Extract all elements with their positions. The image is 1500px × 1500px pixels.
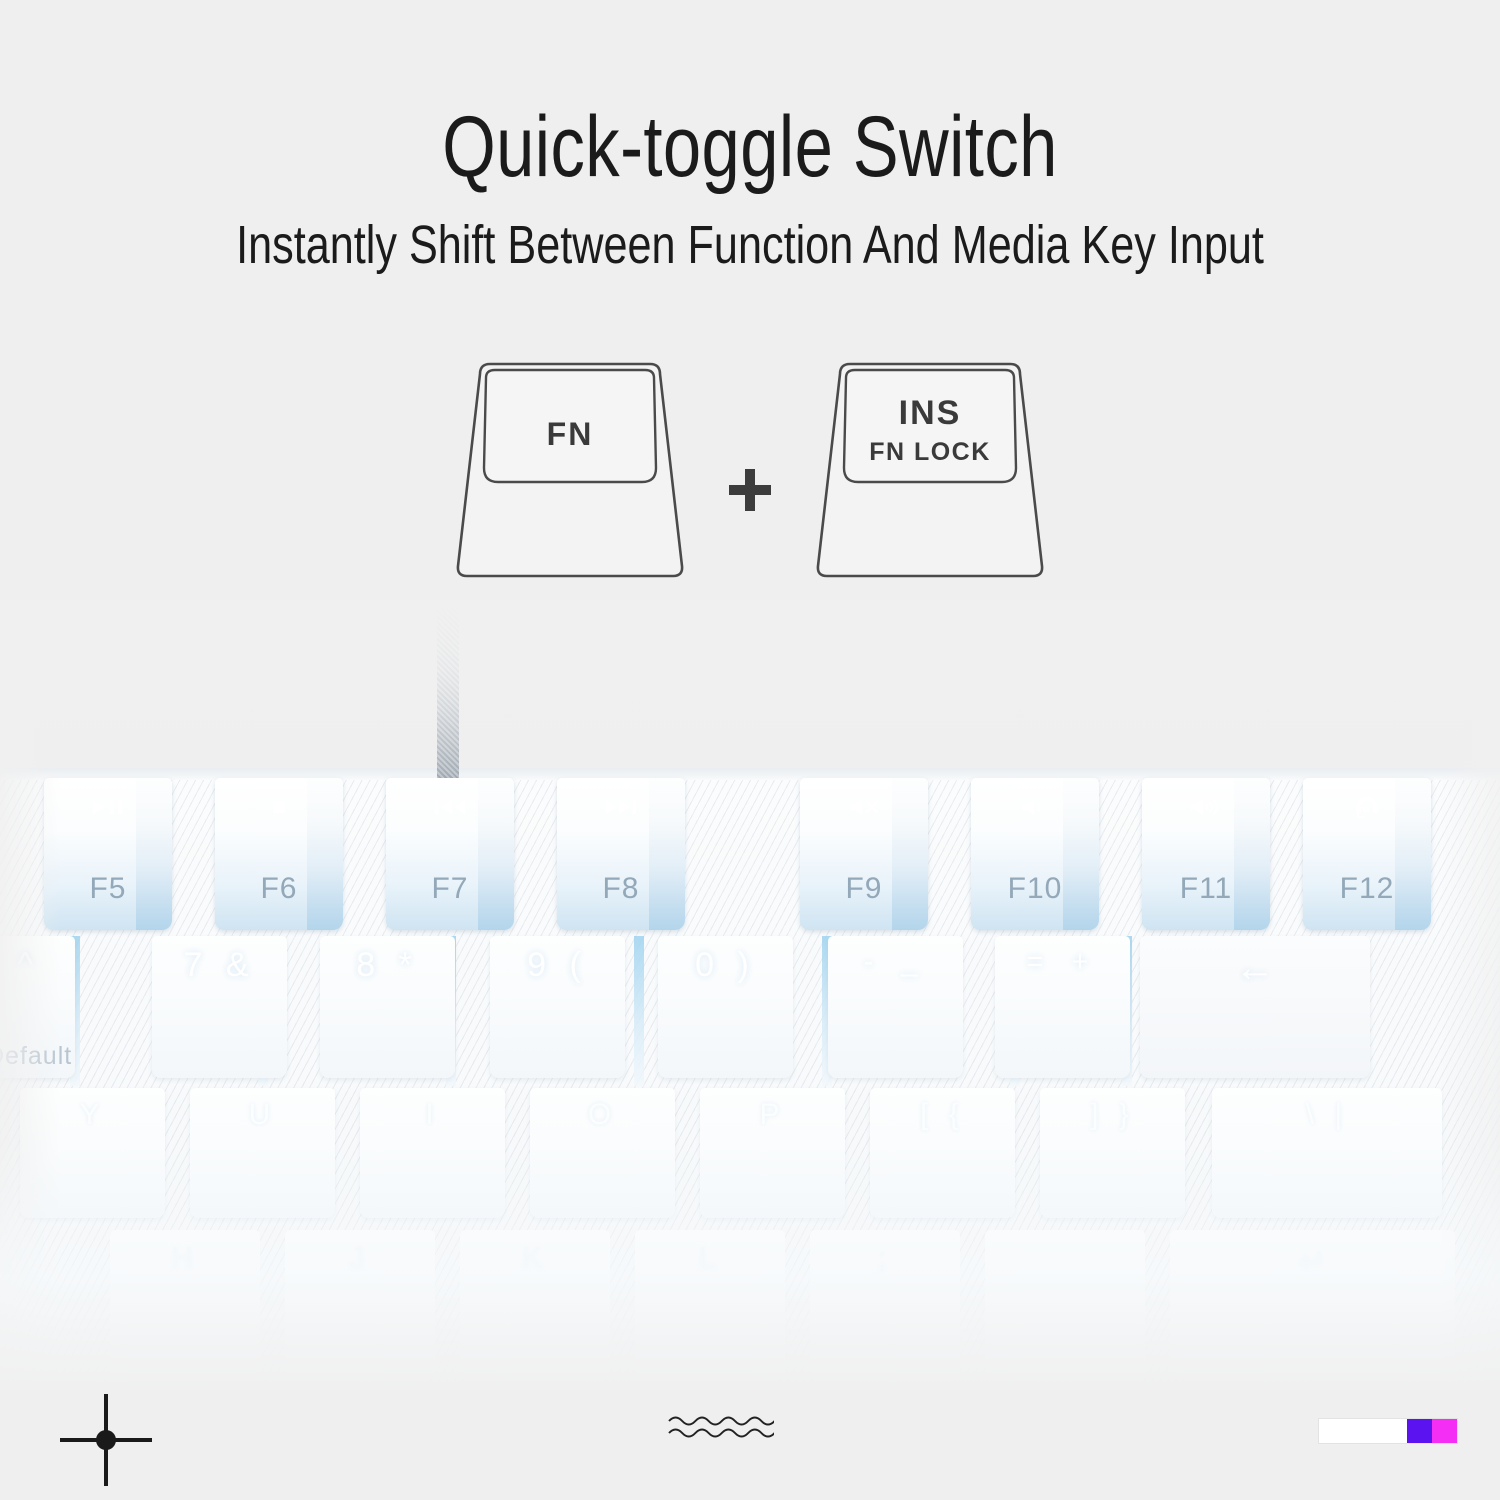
key-backslash: \ | bbox=[1212, 1088, 1442, 1218]
key-legend: 7 & bbox=[152, 946, 287, 985]
key-o: O bbox=[530, 1088, 675, 1218]
page-subtitle: Instantly Shift Between Function And Med… bbox=[150, 218, 1350, 272]
volume-down-icon bbox=[971, 796, 1099, 817]
key-h: H bbox=[110, 1230, 260, 1380]
key-f10: F10 bbox=[971, 778, 1099, 930]
key-legend: K bbox=[460, 1242, 610, 1276]
marketing-banner: Quick-toggle Switch Instantly Shift Betw… bbox=[0, 0, 1500, 1500]
print-color-bar bbox=[1318, 1418, 1458, 1444]
plus-icon bbox=[727, 467, 773, 513]
play-pause-icon bbox=[44, 796, 172, 817]
key-7: 7 & bbox=[152, 936, 287, 1078]
key-legend: F5 bbox=[44, 872, 172, 906]
ins-keycap-illustration: INS FN LOCK bbox=[810, 360, 1050, 590]
key-9: 9 ( bbox=[490, 936, 625, 1078]
key-f9: F9 bbox=[800, 778, 928, 930]
color-swatch-magenta bbox=[1432, 1419, 1457, 1443]
key-legend: = + bbox=[995, 946, 1130, 979]
keyboard-photo: F5 F6 F7 F8 bbox=[0, 600, 1500, 1390]
key-legend: 0 ) bbox=[658, 946, 793, 985]
key-legend: F12 bbox=[1303, 872, 1431, 906]
qwerty-row: Y U I O P [ { ] } \ | bbox=[0, 1088, 1500, 1223]
key-legend: 8 * bbox=[320, 946, 455, 985]
stop-icon bbox=[215, 796, 343, 817]
key-legend: U bbox=[190, 1098, 335, 1132]
key-legend: F9 bbox=[800, 872, 928, 906]
key-u: U bbox=[190, 1088, 335, 1218]
key-j: J bbox=[285, 1230, 435, 1380]
key-legend: ] } bbox=[1040, 1098, 1185, 1132]
key-f5: F5 bbox=[44, 778, 172, 930]
key-semicolon: ; bbox=[810, 1230, 960, 1380]
crosshair-registration-mark bbox=[58, 1392, 154, 1488]
key-legend: ← bbox=[1140, 946, 1370, 991]
key-quote bbox=[985, 1230, 1145, 1380]
key-legend: F7 bbox=[386, 872, 514, 906]
headings-block: Quick-toggle Switch Instantly Shift Betw… bbox=[0, 0, 1500, 272]
previous-track-icon bbox=[386, 796, 514, 817]
number-row: 6 ^ 7 & 8 * 9 ( 0 ) - _ = + ← bbox=[0, 936, 1500, 1086]
key-legend: O bbox=[530, 1098, 675, 1132]
key-k: K bbox=[460, 1230, 610, 1380]
key-legend: H bbox=[110, 1242, 260, 1276]
key-f12: F12 bbox=[1303, 778, 1431, 930]
home-row: H J K L ; ↵ bbox=[0, 1230, 1500, 1390]
key-legend: [ { bbox=[870, 1098, 1015, 1132]
mute-icon bbox=[800, 796, 928, 817]
key-enter: ↵ bbox=[1170, 1230, 1455, 1380]
fn-keycap-illustration: FN bbox=[450, 360, 690, 590]
fn-keycap-label: FN bbox=[450, 416, 690, 453]
key-backspace: ← bbox=[1140, 936, 1370, 1078]
key-8: 8 * bbox=[320, 936, 455, 1078]
key-legend: P bbox=[700, 1098, 845, 1132]
key-equals: = + bbox=[995, 936, 1130, 1078]
next-track-icon bbox=[557, 796, 685, 817]
key-legend: F11 bbox=[1142, 872, 1270, 906]
key-legend: I bbox=[360, 1098, 505, 1132]
key-bracket-left: [ { bbox=[870, 1088, 1015, 1218]
fn-keycap-shape bbox=[450, 360, 690, 590]
key-f11: F11 bbox=[1142, 778, 1270, 930]
page-title: Quick-toggle Switch bbox=[150, 104, 1350, 190]
wavy-line-resolution-mark bbox=[668, 1410, 774, 1444]
key-legend: F8 bbox=[557, 872, 685, 906]
key-minus: - _ bbox=[828, 936, 963, 1078]
volume-up-icon bbox=[1142, 796, 1270, 817]
key-0: 0 ) bbox=[658, 936, 793, 1078]
key-i: I bbox=[360, 1088, 505, 1218]
key-legend: - _ bbox=[828, 946, 963, 979]
key-legend: 9 ( bbox=[490, 946, 625, 985]
key-f7: F7 bbox=[386, 778, 514, 930]
key-f6: F6 bbox=[215, 778, 343, 930]
color-swatch-violet bbox=[1407, 1419, 1432, 1443]
key-legend: J bbox=[285, 1242, 435, 1276]
key-legend: ↵ bbox=[1170, 1242, 1455, 1282]
key-legend: L bbox=[635, 1242, 785, 1276]
key-legend: F10 bbox=[971, 872, 1099, 906]
key-legend: F6 bbox=[215, 872, 343, 906]
key-legend: \ | bbox=[1212, 1098, 1442, 1132]
key-legend: ; bbox=[810, 1242, 960, 1276]
key-l: L bbox=[635, 1230, 785, 1380]
headset-icon bbox=[1303, 796, 1431, 818]
ins-keycap-secondary-label: FN LOCK bbox=[810, 438, 1050, 467]
key-f8: F8 bbox=[557, 778, 685, 930]
color-swatch-white bbox=[1319, 1419, 1407, 1443]
key-p: P bbox=[700, 1088, 845, 1218]
key-bracket-right: ] } bbox=[1040, 1088, 1185, 1218]
key-combo-diagram: FN INS FN LOCK bbox=[0, 360, 1500, 590]
ins-keycap-primary-label: INS bbox=[810, 394, 1050, 433]
plus-operator bbox=[690, 360, 810, 590]
